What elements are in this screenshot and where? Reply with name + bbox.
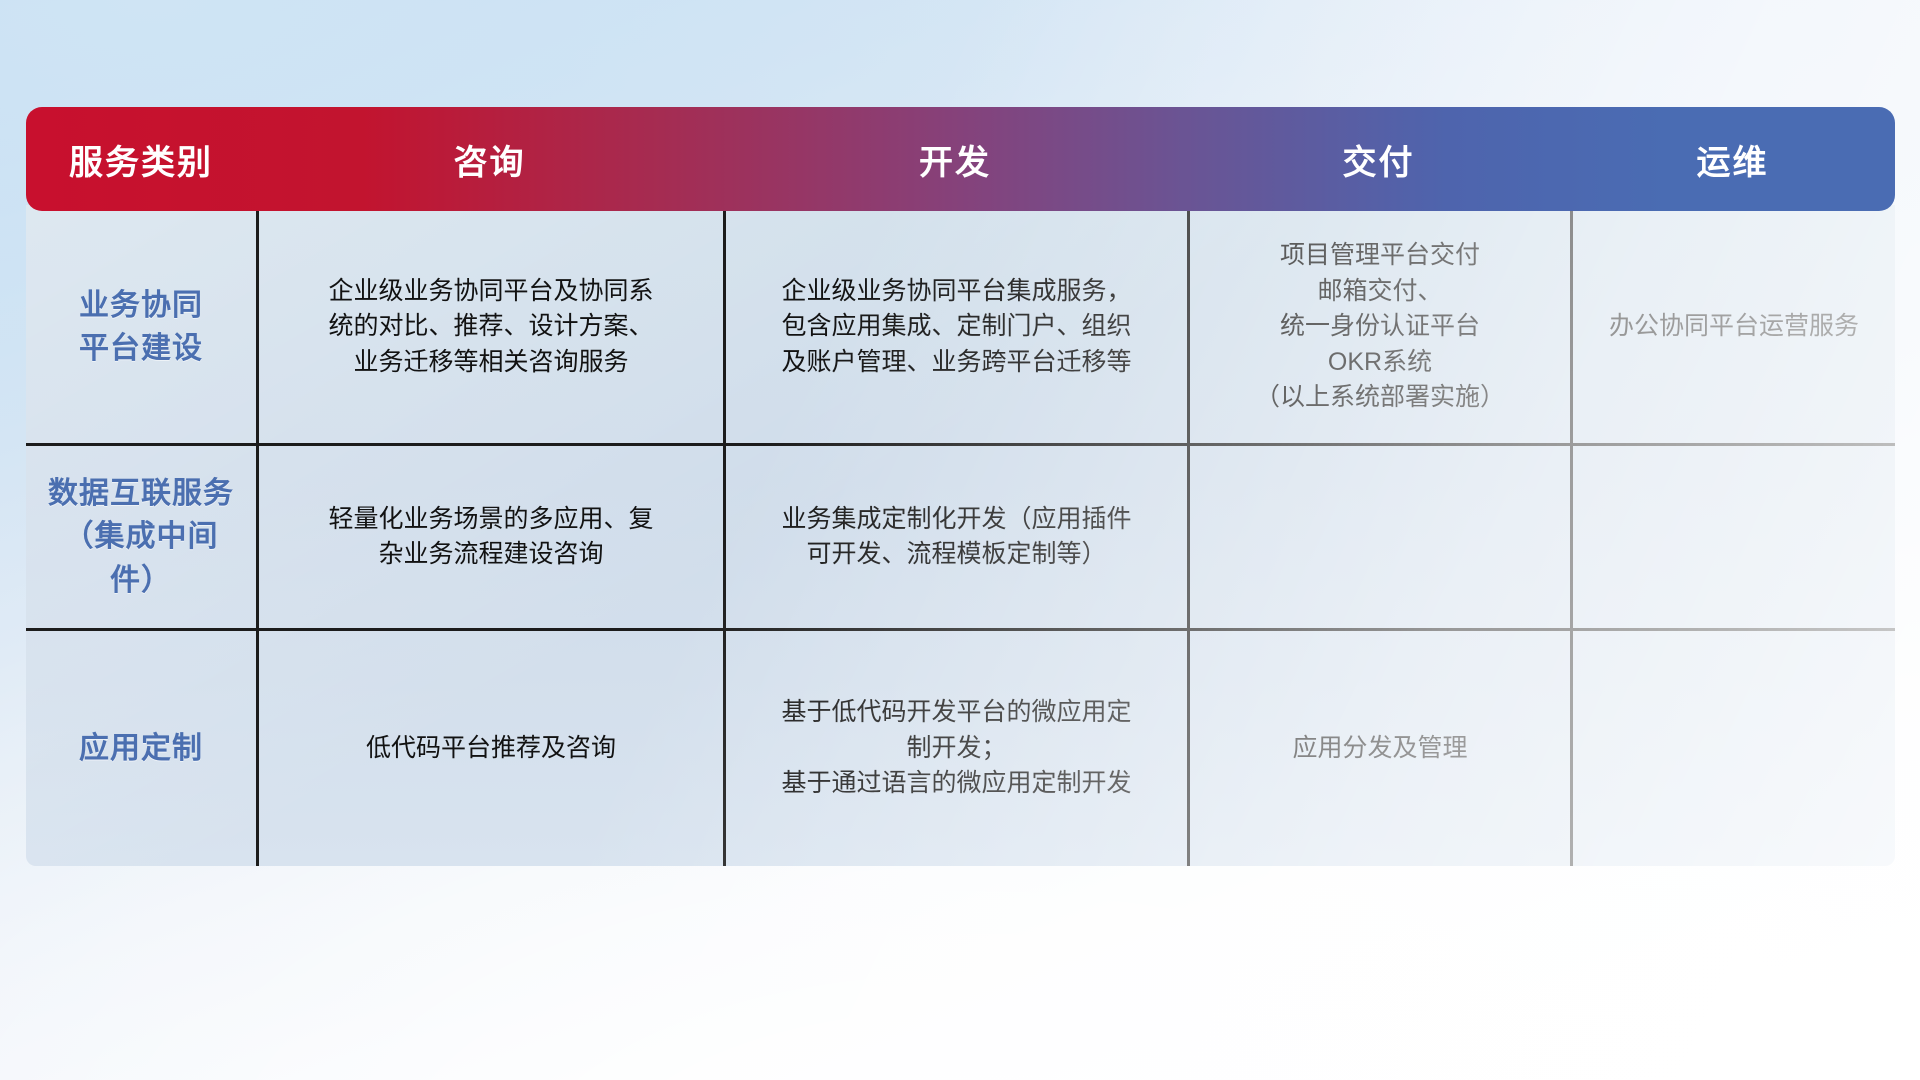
row-category-label: 应用定制 bbox=[26, 631, 256, 866]
table-header-row: 服务类别 咨询 开发 交付 运维 bbox=[26, 107, 1895, 211]
cell-delivery: 应用分发及管理 bbox=[1187, 631, 1570, 866]
column-header-development: 开发 bbox=[723, 107, 1187, 211]
cell-consulting: 低代码平台推荐及咨询 bbox=[256, 631, 723, 866]
cell-delivery: 项目管理平台交付 邮箱交付、 统一身份认证平台 OKR系统 （以上系统部署实施） bbox=[1187, 211, 1570, 443]
cell-operations bbox=[1570, 631, 1895, 866]
table-body: 业务协同 平台建设 企业级业务协同平台及协同系 统的对比、推荐、设计方案、 业务… bbox=[26, 205, 1895, 866]
row-category-label: 业务协同 平台建设 bbox=[26, 211, 256, 443]
column-header-consulting: 咨询 bbox=[256, 107, 723, 211]
table-row: 应用定制 低代码平台推荐及咨询 基于低代码开发平台的微应用定 制开发； 基于通过… bbox=[26, 628, 1895, 866]
cell-operations bbox=[1570, 446, 1895, 628]
cell-consulting: 企业级业务协同平台及协同系 统的对比、推荐、设计方案、 业务迁移等相关咨询服务 bbox=[256, 211, 723, 443]
cell-development: 企业级业务协同平台集成服务， 包含应用集成、定制门户、组织 及账户管理、业务跨平… bbox=[723, 211, 1187, 443]
service-matrix-table: 服务类别 咨询 开发 交付 运维 业务协同 平台建设 企业级业务协同平台及协同系… bbox=[26, 107, 1895, 866]
cell-operations: 办公协同平台运营服务 bbox=[1570, 211, 1895, 443]
column-header-delivery: 交付 bbox=[1187, 107, 1570, 211]
column-header-category: 服务类别 bbox=[26, 107, 256, 211]
cell-development: 业务集成定制化开发（应用插件 可开发、流程模板定制等） bbox=[723, 446, 1187, 628]
row-category-label: 数据互联服务 （集成中间件） bbox=[26, 446, 256, 628]
slide-canvas: 服务类别 咨询 开发 交付 运维 业务协同 平台建设 企业级业务协同平台及协同系… bbox=[0, 0, 1920, 1080]
table-row: 数据互联服务 （集成中间件） 轻量化业务场景的多应用、复 杂业务流程建设咨询 业… bbox=[26, 443, 1895, 628]
cell-consulting: 轻量化业务场景的多应用、复 杂业务流程建设咨询 bbox=[256, 446, 723, 628]
cell-development: 基于低代码开发平台的微应用定 制开发； 基于通过语言的微应用定制开发 bbox=[723, 631, 1187, 866]
table-row: 业务协同 平台建设 企业级业务协同平台及协同系 统的对比、推荐、设计方案、 业务… bbox=[26, 211, 1895, 443]
column-header-operations: 运维 bbox=[1570, 107, 1895, 211]
cell-delivery bbox=[1187, 446, 1570, 628]
